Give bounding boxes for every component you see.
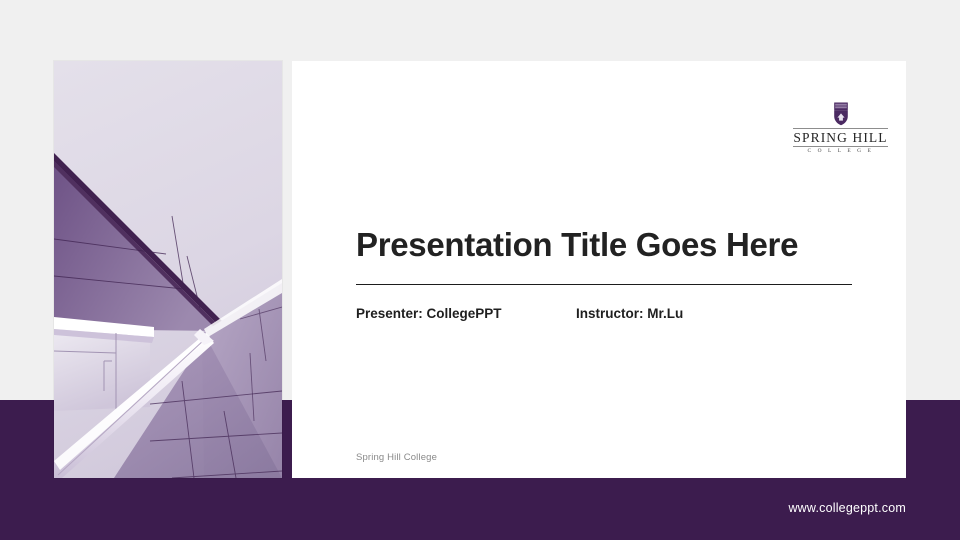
shield-crest-icon	[831, 102, 851, 126]
site-url-text: www.collegeppt.com	[788, 501, 906, 515]
title-block: Presentation Title Goes Here Presenter: …	[356, 227, 852, 321]
title-divider	[356, 284, 852, 285]
cover-photo-artwork	[54, 61, 282, 478]
page-title: Presentation Title Goes Here	[356, 227, 852, 263]
logo-rule-right	[793, 146, 888, 147]
logo-wordmark: SPRING HILL	[793, 129, 888, 146]
byline-row: Presenter: CollegePPT Instructor: Mr.Lu	[356, 306, 852, 321]
logo-rule-left	[793, 128, 888, 129]
slide-content-card: SPRING HILL C O L L E G E Presentation T…	[292, 61, 906, 478]
spring-hill-college-logo: SPRING HILL C O L L E G E	[793, 102, 888, 154]
logo-top-rule	[793, 128, 888, 129]
instructor-label: Instructor: Mr.Lu	[576, 306, 683, 321]
cover-photo	[54, 61, 282, 478]
logo-subword: C O L L E G E	[793, 147, 888, 154]
slide-canvas: www.collegeppt.com	[0, 0, 960, 540]
card-footer-text: Spring Hill College	[356, 452, 437, 463]
presenter-label: Presenter: CollegePPT	[356, 306, 576, 321]
logo-bottom-rule	[793, 146, 888, 147]
